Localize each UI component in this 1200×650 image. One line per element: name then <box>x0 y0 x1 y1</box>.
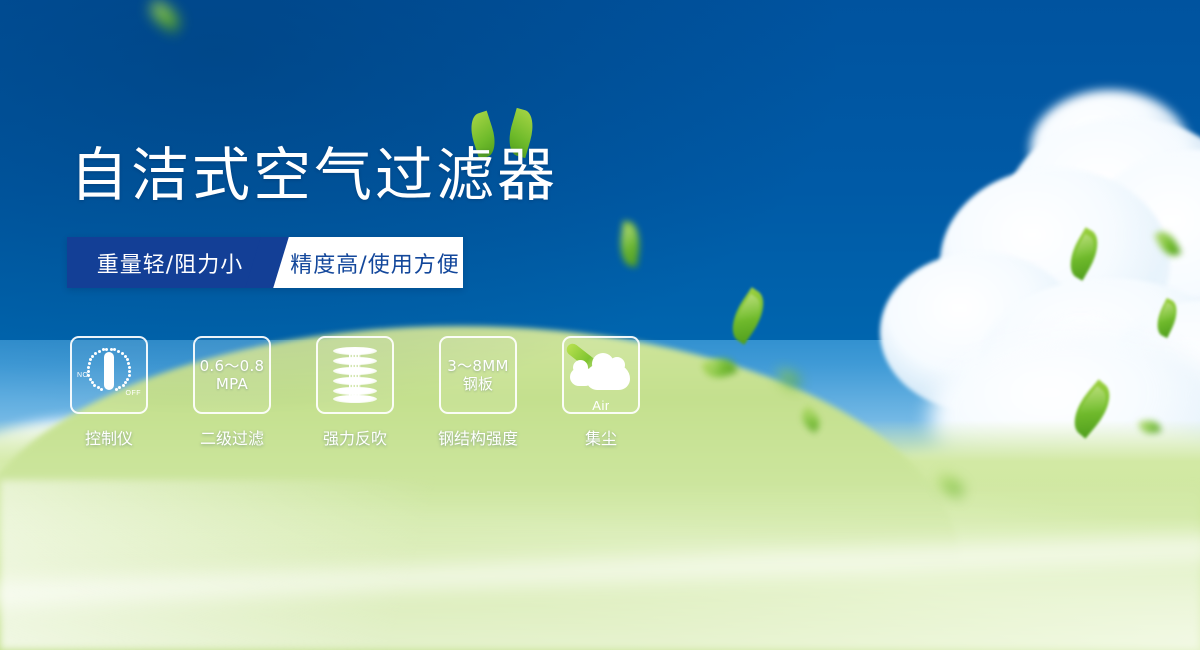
feature-list: NO OFF 控制仪 0.6～0.8 MPA 二级过滤 <box>70 336 640 449</box>
feature-icon-box <box>316 336 394 414</box>
filter-cartridge-icon <box>333 347 377 403</box>
pressure-text-icon: 0.6～0.8 MPA <box>200 357 265 394</box>
subtitle-left: 重量轻/阻力小 <box>67 237 267 288</box>
feature-item-control[interactable]: NO OFF 控制仪 <box>70 336 148 449</box>
cartridge-ring <box>333 367 377 375</box>
dial-dot <box>102 348 105 351</box>
dial-dot <box>128 366 131 369</box>
dial-dot <box>105 348 108 351</box>
feature-icon-box: NO OFF <box>70 336 148 414</box>
feature-item-blowback[interactable]: 强力反吹 <box>316 336 394 449</box>
feature-icon-box: 3～8MM 钢板 <box>439 336 517 414</box>
feature-text-line: 3～8MM <box>447 357 508 375</box>
dial-dot <box>91 381 94 384</box>
feature-text-line: 钢板 <box>447 375 508 393</box>
dial-dot <box>91 355 94 358</box>
feature-item-steel[interactable]: 3～8MM 钢板 钢结构强度 <box>439 336 517 449</box>
dial-off-label: OFF <box>126 390 142 397</box>
cartridge-ring <box>333 347 377 355</box>
subtitle-right: 精度高/使用方便 <box>267 237 463 288</box>
dial-dot <box>94 352 97 355</box>
dial-dot <box>100 388 103 391</box>
dial-dot <box>113 348 116 351</box>
air-label: Air <box>570 398 632 413</box>
cartridge-ring <box>333 387 377 395</box>
dial-dot <box>128 374 131 377</box>
dial-dot <box>118 386 121 389</box>
dial-dot <box>97 386 100 389</box>
dial-dot <box>98 350 101 353</box>
subtitle-bar: 重量轻/阻力小 精度高/使用方便 <box>67 237 463 288</box>
feature-item-pressure[interactable]: 0.6～0.8 MPA 二级过滤 <box>193 336 271 449</box>
dial-no-label: NO <box>77 372 89 379</box>
dial-dot <box>115 388 118 391</box>
dial-dot <box>89 358 92 361</box>
dial-knob <box>104 352 114 390</box>
feature-icon-box: Air <box>562 336 640 414</box>
control-dial-icon: NO OFF <box>78 346 140 404</box>
feature-item-dust[interactable]: Air 集尘 <box>562 336 640 449</box>
feature-label: 强力反吹 <box>323 425 387 449</box>
dial-dot <box>87 366 90 369</box>
feature-label: 集尘 <box>585 425 617 449</box>
dial-dot <box>121 352 124 355</box>
product-banner: 自洁式空气过滤器 重量轻/阻力小 精度高/使用方便 NO OFF 控制仪 0.6… <box>0 0 1200 650</box>
dial-dot <box>88 362 91 365</box>
cartridge-ring <box>333 395 377 403</box>
cloud-big-shape <box>586 364 630 390</box>
feature-text-line: 0.6～0.8 <box>200 357 265 375</box>
grass-highlight <box>0 480 1200 650</box>
feature-text-line: MPA <box>200 375 265 393</box>
dial-dot <box>124 381 127 384</box>
cartridge-ring <box>333 377 377 385</box>
feature-label: 控制仪 <box>85 425 133 449</box>
dial-dot <box>126 358 129 361</box>
dial-dot <box>122 384 125 387</box>
steel-plate-text-icon: 3～8MM 钢板 <box>447 357 508 394</box>
dial-dot <box>89 378 92 381</box>
air-cloud-icon: Air <box>570 352 632 398</box>
page-title: 自洁式空气过滤器 <box>70 146 558 204</box>
dial-dot <box>127 362 130 365</box>
dial-dot <box>117 350 120 353</box>
dial-dot <box>110 348 113 351</box>
dial-dot <box>126 378 129 381</box>
dial-dot <box>128 370 131 373</box>
dial-dot <box>93 384 96 387</box>
feature-icon-box: 0.6～0.8 MPA <box>193 336 271 414</box>
cartridge-ring <box>333 357 377 365</box>
feature-label: 二级过滤 <box>200 425 264 449</box>
feature-label: 钢结构强度 <box>438 425 518 449</box>
